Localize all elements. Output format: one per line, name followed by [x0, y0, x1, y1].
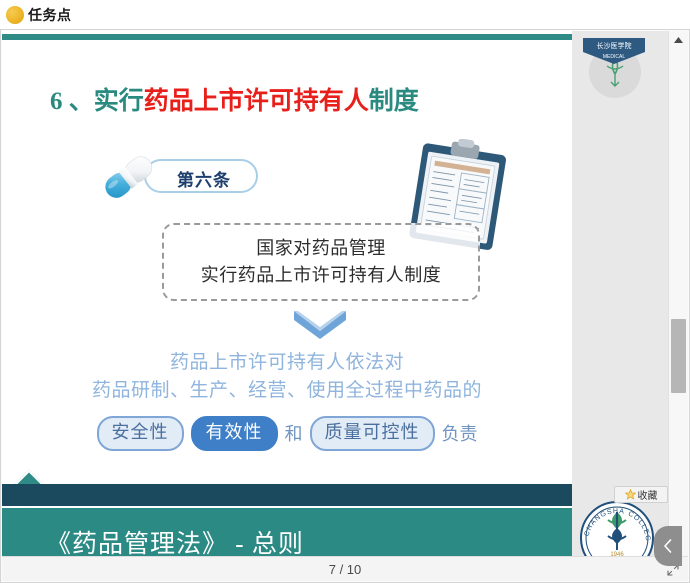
scrollbar-thumb[interactable]	[671, 319, 686, 393]
caret-up-icon	[673, 36, 684, 44]
changsha-medical-college-seal-icon: 长沙医学院 MEDICAL	[567, 36, 651, 112]
title-suffix: 制度	[369, 88, 419, 115]
favorite-label: 收藏	[638, 487, 658, 502]
title-highlight: 药品上市许可持有人	[144, 88, 369, 115]
favorite-button[interactable]: 收藏	[614, 486, 668, 503]
page-title: 6 、实行药品上市许可持有人制度	[50, 81, 419, 117]
article-badge: 第六条	[98, 153, 268, 201]
badge-quality-controllability: 质量可控性	[310, 416, 435, 451]
slide-content: 长沙医学院 MEDICAL 6 、实行药品上市许可持有人制度 第六条	[2, 31, 668, 556]
chevron-down-icon	[292, 309, 348, 339]
viewer-status-bar: 7 / 10	[2, 556, 688, 581]
star-icon	[625, 489, 636, 500]
scrollbar-up-arrow-button[interactable]	[669, 31, 688, 49]
document-viewer: 长沙医学院 MEDICAL 6 、实行药品上市许可持有人制度 第六条	[0, 29, 690, 583]
conclusion-text: 药品上市许可持有人依法对 药品研制、生产、经营、使用全过程中药品的	[2, 349, 572, 404]
statement-line-2: 实行药品上市许可持有人制度	[201, 262, 442, 289]
statement-line-1: 国家对药品管理	[256, 235, 386, 262]
vertical-scrollbar[interactable]	[668, 31, 688, 556]
conclusion-line-2: 药品研制、生产、经营、使用全过程中药品的	[2, 377, 572, 405]
page-indicator: 7 / 10	[2, 557, 688, 582]
connector-and: 和	[285, 420, 303, 446]
trailing-responsibility-text: 负责	[442, 420, 478, 446]
slide-top-rule	[2, 34, 572, 40]
footer-navy-band	[2, 484, 572, 506]
conclusion-line-1: 药品上市许可持有人依法对	[2, 349, 572, 377]
chevron-left-icon	[662, 539, 674, 553]
article-badge-label: 第六条	[154, 166, 254, 191]
task-point-dot-icon	[6, 6, 24, 24]
changsha-medical-college-seal-icon: CHANGSHA COLLEGE MEDICAL 1946 长沙医学院	[574, 498, 660, 556]
badge-efficacy: 有效性	[191, 416, 278, 451]
svg-text:长沙医学院: 长沙医学院	[597, 41, 632, 50]
task-point-header: 任务点	[0, 0, 690, 30]
title-prefix: 6 、实行	[50, 88, 144, 115]
badge-safety: 安全性	[97, 416, 184, 451]
svg-text:MEDICAL: MEDICAL	[603, 54, 625, 60]
footer-title: 《药品管理法》 - 总则	[46, 524, 304, 556]
statement-box: 国家对药品管理 实行药品上市许可持有人制度	[162, 223, 480, 301]
slide-canvas[interactable]: 长沙医学院 MEDICAL 6 、实行药品上市许可持有人制度 第六条	[2, 31, 668, 556]
prev-slide-button[interactable]	[654, 526, 682, 566]
attribute-badge-row: 安全性 有效性 和 质量可控性 负责	[2, 416, 572, 451]
task-point-label: 任务点	[28, 5, 72, 25]
capsule-pill-icon	[98, 153, 160, 201]
